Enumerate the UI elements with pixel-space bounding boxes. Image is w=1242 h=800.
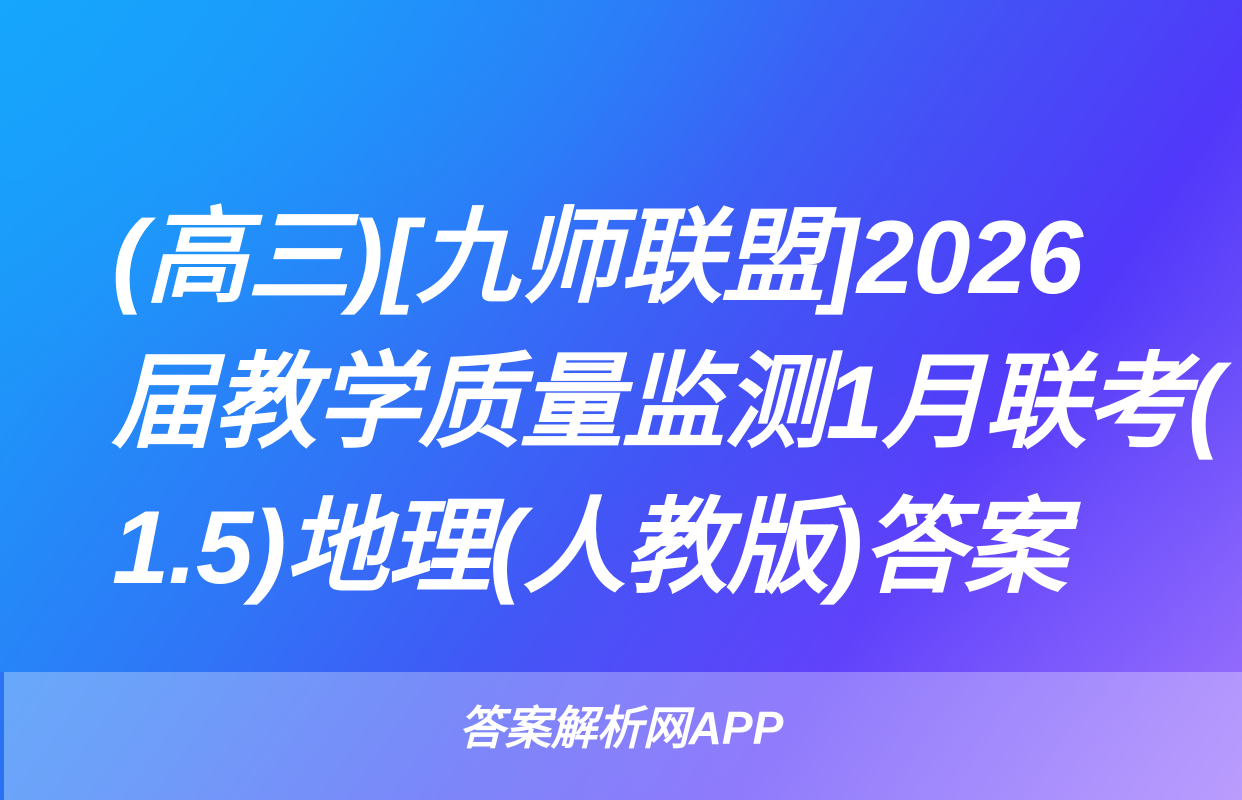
title-line-3: 1.5)地理(人教版)答案: [112, 476, 1132, 621]
title-line-1: (高三)[九师联盟]2026: [112, 186, 1132, 331]
exam-title-banner: (高三)[九师联盟]2026 届教学质量监测1月联考( 1.5)地理(人教版)答…: [0, 0, 1242, 800]
watermark-app-name: 答案解析网APP: [0, 700, 1242, 756]
page-title: (高三)[九师联盟]2026 届教学质量监测1月联考( 1.5)地理(人教版)答…: [112, 186, 1142, 621]
title-line-2: 届教学质量监测1月联考(: [112, 331, 1132, 476]
